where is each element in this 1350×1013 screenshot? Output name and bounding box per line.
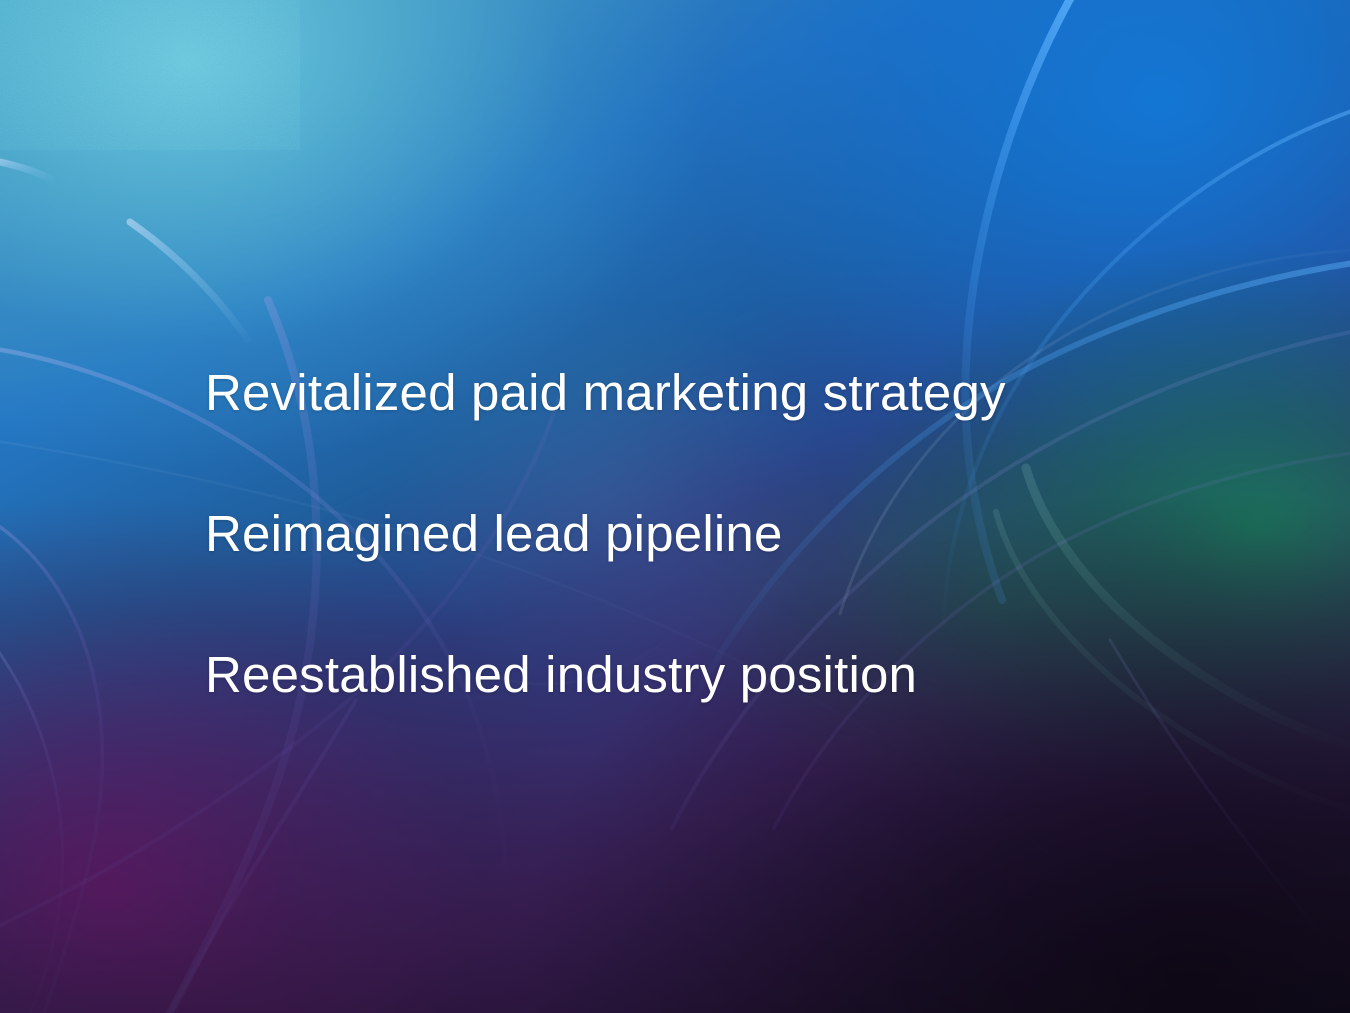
background-noise-grain [0,0,300,150]
slide-line-1: Revitalized paid marketing strategy [205,322,1265,463]
slide-body-text: Revitalized paid marketing strategy Reim… [205,322,1265,745]
slide-line-2: Reimagined lead pipeline [205,463,1265,604]
slide-line-3: Reestablished industry position [205,604,1265,745]
presentation-slide: Revitalized paid marketing strategy Reim… [0,0,1350,1013]
